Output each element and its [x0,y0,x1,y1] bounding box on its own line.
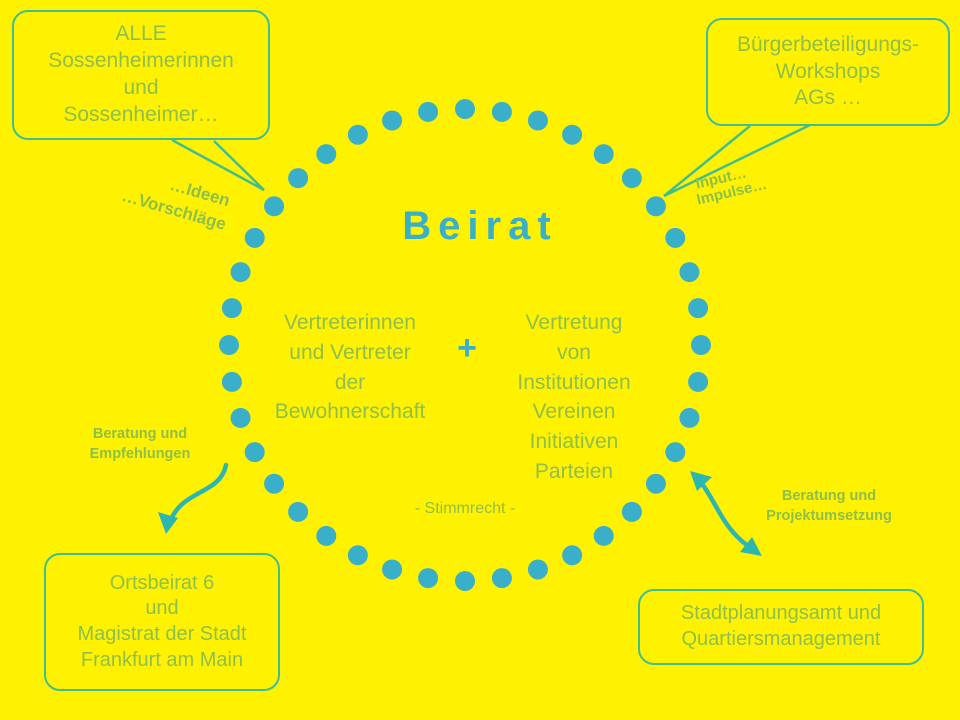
ring-dot [231,262,251,282]
ring-dot [594,144,614,164]
ring-dot [622,168,642,188]
beratung-empfehlungen-arrow [158,465,226,534]
box-stadtplanungsamt[interactable]: Stadtplanungsamt und Quartiersmanagement [638,589,924,665]
box-ortsbeirat-text: Ortsbeirat 6 und Magistrat der Stadt Fra… [46,571,278,673]
ring-dot [288,502,308,522]
ring-dot [665,442,685,462]
ring-dot [316,144,336,164]
ring-dot [245,442,265,462]
ring-dot [455,571,475,591]
ring-dot [418,568,438,588]
label-beratung-projektumsetzung: Beratung und Projektumsetzung [744,487,914,526]
ring-dot [528,559,548,579]
diagram-canvas: ALLE Sossenheimerinnen und Sossenheimer…… [0,0,960,720]
ring-dot [492,102,512,122]
plus-icon: + [449,330,485,366]
ring-dot [348,125,368,145]
ring-dot [688,372,708,392]
ring-dot [288,168,308,188]
label-beratung-empfehlungen: Beratung und Empfehlungen [70,425,210,464]
ring-dot [222,372,242,392]
ring-dot [316,526,336,546]
ring-dot [219,335,239,355]
ring-dot [222,298,242,318]
box-stadtplanungsamt-text: Stadtplanungsamt und Quartiersmanagement [640,601,922,652]
ring-dot [231,408,251,428]
speech-bubble-workshops-text: Bürgerbeteiligungs- Workshops AGs … [708,32,948,113]
ring-dot [562,545,582,565]
center-column-right: Vertretung von Institutionen Vereinen In… [490,308,658,487]
ring-dot [528,111,548,131]
ring-dot [382,111,402,131]
ring-dot [688,298,708,318]
speech-bubble-workshops[interactable]: Bürgerbeteiligungs- Workshops AGs … [706,18,950,126]
stimmrecht-footnote: - Stimmrecht - [355,500,575,518]
ring-dot [455,99,475,119]
ring-dot [348,545,368,565]
ring-dot [562,125,582,145]
ring-dot [679,408,699,428]
ring-dot [622,502,642,522]
ring-dot [382,559,402,579]
ring-dot [679,262,699,282]
ring-dot [691,335,711,355]
speech-bubble-residents-text: ALLE Sossenheimerinnen und Sossenheimer… [14,21,268,129]
ring-dot [264,474,284,494]
box-ortsbeirat[interactable]: Ortsbeirat 6 und Magistrat der Stadt Fra… [44,553,280,691]
center-column-left: Vertreterinnen und Vertreter der Bewohne… [262,308,438,427]
speech-bubble-residents[interactable]: ALLE Sossenheimerinnen und Sossenheimer… [12,10,270,140]
ring-dot [594,526,614,546]
ring-dot [418,102,438,122]
ring-dot [492,568,512,588]
